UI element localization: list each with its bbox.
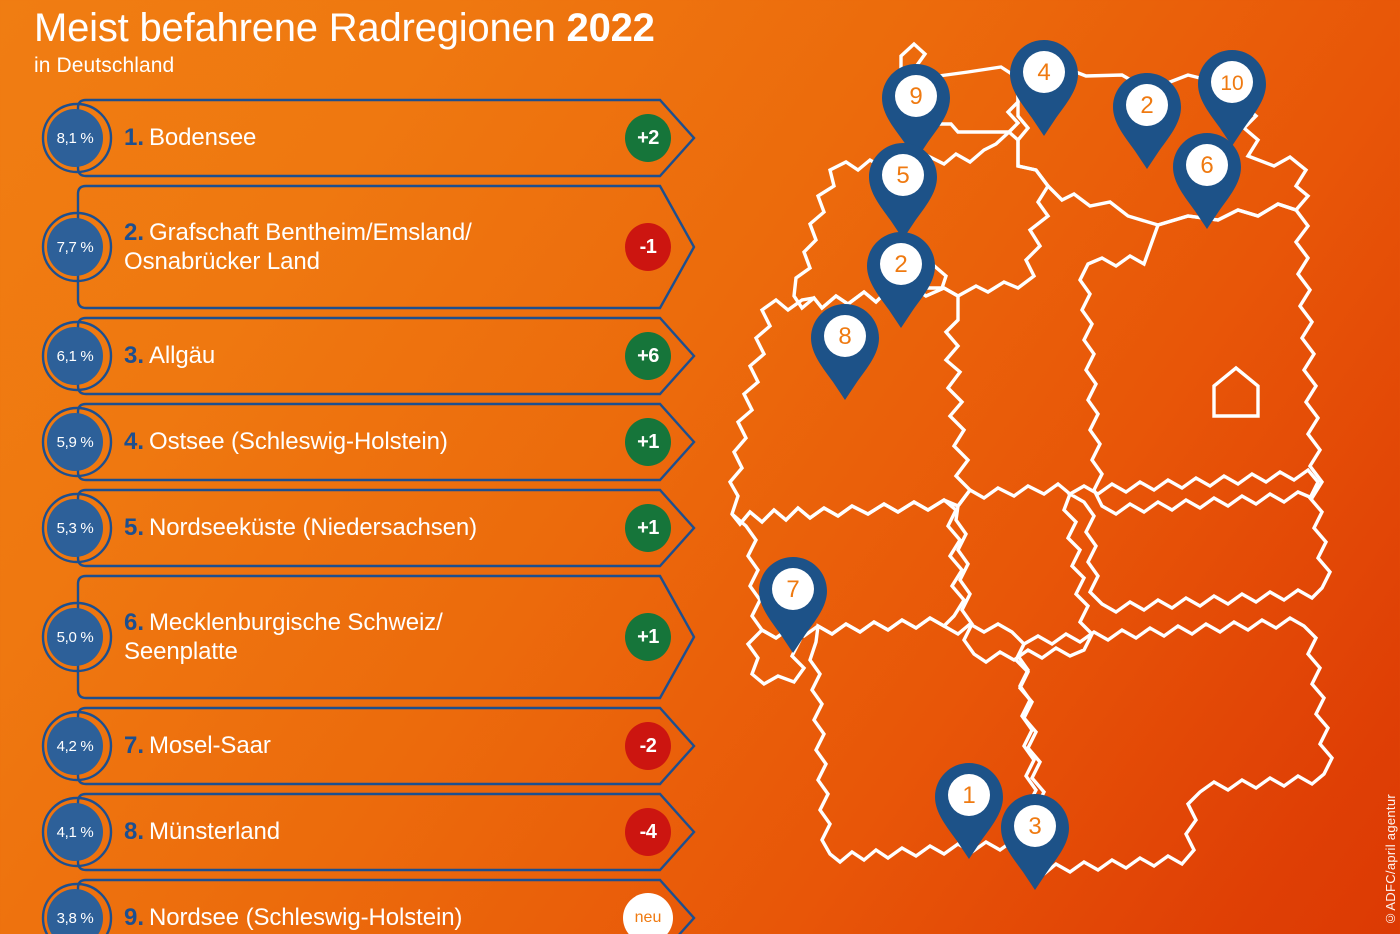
rank-number: 8.: [124, 818, 144, 845]
rank-number: 2.: [124, 219, 144, 246]
change-badge-wrap: -4: [600, 792, 696, 872]
region-label: 8.Münsterland: [114, 792, 600, 872]
change-badge-wrap: +2: [600, 98, 696, 178]
percentage-value: 5,3 %: [57, 520, 94, 537]
percentage-value: 6,1 %: [57, 348, 94, 365]
ranking-row[interactable]: 5,9 %4.Ostsee (Schleswig-Holstein)+1: [36, 402, 696, 482]
pin-number: 5: [896, 162, 909, 189]
percentage-bubble: 6,1 %: [36, 316, 114, 396]
change-badge-wrap: -1: [600, 184, 696, 310]
ranking-row[interactable]: 3,8 %9.Nordsee (Schleswig-Holstein)neu: [36, 878, 696, 934]
page-title: Meist befahrene Radregionen 2022: [34, 6, 814, 51]
rank-number: 9.: [124, 904, 144, 931]
rank-number: 6.: [124, 609, 144, 636]
region-label: 4.Ostsee (Schleswig-Holstein): [114, 402, 600, 482]
rank-number: 5.: [124, 514, 144, 541]
change-badge: +2: [625, 114, 671, 162]
change-badge-wrap: +1: [600, 402, 696, 482]
percentage-bubble: 8,1 %: [36, 98, 114, 178]
pin-number: 4: [1037, 59, 1050, 86]
ranking-row[interactable]: 5,3 %5.Nordseeküste (Niedersachsen)+1: [36, 488, 696, 568]
change-badge: +1: [625, 613, 671, 661]
percentage-value: 5,0 %: [57, 629, 94, 646]
region-name: Seenplatte: [124, 638, 238, 665]
map-outline: [730, 44, 1332, 874]
percentage-bubble: 3,8 %: [36, 878, 114, 934]
change-badge-wrap: -2: [600, 706, 696, 786]
map-pin[interactable]: 2: [1113, 73, 1181, 169]
region-label: 5.Nordseeküste (Niedersachsen): [114, 488, 600, 568]
change-badge: +1: [625, 504, 671, 552]
change-badge-wrap: neu: [600, 878, 696, 934]
ranking-row[interactable]: 6,1 %3.Allgäu+6: [36, 316, 696, 396]
pin-number: 2: [1140, 92, 1153, 119]
map-pin[interactable]: 3: [1001, 794, 1069, 890]
pin-number: 7: [786, 576, 799, 603]
region-name: Osnabrücker Land: [124, 248, 320, 275]
map-pin[interactable]: 2: [867, 232, 935, 328]
map-pin[interactable]: 8: [811, 304, 879, 400]
change-badge: -2: [625, 722, 671, 770]
percentage-value: 8,1 %: [57, 130, 94, 147]
ranking-row[interactable]: 5,0 %6.Mecklenburgische Schweiz/Seenplat…: [36, 574, 696, 700]
region-label: 7.Mosel-Saar: [114, 706, 600, 786]
map-pin[interactable]: 4: [1010, 40, 1078, 136]
map-pin[interactable]: 10: [1198, 50, 1266, 146]
title-main-text: Meist befahrene Radregionen: [34, 6, 567, 50]
percentage-value: 7,7 %: [57, 239, 94, 256]
change-badge-wrap: +1: [600, 488, 696, 568]
percentage-value: 5,9 %: [57, 434, 94, 451]
rank-number: 7.: [124, 732, 144, 759]
region-label: 1.Bodensee: [114, 98, 600, 178]
pin-number: 3: [1028, 813, 1041, 840]
change-badge: -4: [625, 808, 671, 856]
page-subtitle: in Deutschland: [34, 54, 814, 78]
region-label: 2.Grafschaft Bentheim/Emsland/Osnabrücke…: [114, 184, 600, 310]
change-badge-wrap: +6: [600, 316, 696, 396]
percentage-bubble: 5,0 %: [36, 574, 114, 700]
pin-number: 8: [838, 323, 851, 350]
region-name: Allgäu: [149, 342, 215, 369]
region-label: 9.Nordsee (Schleswig-Holstein): [114, 878, 600, 934]
percentage-value: 4,1 %: [57, 824, 94, 841]
pin-number: 1: [962, 782, 975, 809]
change-badge: +1: [625, 418, 671, 466]
region-name: Münsterland: [149, 818, 280, 845]
change-badge: neu: [623, 893, 673, 934]
header: Meist befahrene Radregionen 2022 in Deut…: [34, 6, 814, 78]
pin-number: 9: [909, 83, 922, 110]
percentage-value: 4,2 %: [57, 738, 94, 755]
rank-number: 1.: [124, 124, 144, 151]
region-name: Bodensee: [149, 124, 256, 151]
region-name: Mecklenburgische Schweiz/: [149, 609, 443, 636]
percentage-bubble: 7,7 %: [36, 184, 114, 310]
percentage-bubble: 5,3 %: [36, 488, 114, 568]
rank-number: 3.: [124, 342, 144, 369]
change-badge: -1: [625, 223, 671, 271]
region-name: Mosel-Saar: [149, 732, 271, 759]
ranking-list: 8,1 %1.Bodensee+27,7 %2.Grafschaft Benth…: [36, 98, 696, 934]
germany-map: 942105628713: [718, 20, 1400, 934]
map-pin[interactable]: 5: [869, 143, 937, 239]
pin-number: 2: [894, 251, 907, 278]
change-badge-wrap: +1: [600, 574, 696, 700]
region-name: Grafschaft Bentheim/Emsland/: [149, 219, 472, 246]
ranking-row[interactable]: 4,1 %8.Münsterland-4: [36, 792, 696, 872]
region-label: 3.Allgäu: [114, 316, 600, 396]
ranking-row[interactable]: 4,2 %7.Mosel-Saar-2: [36, 706, 696, 786]
percentage-bubble: 5,9 %: [36, 402, 114, 482]
ranking-row[interactable]: 7,7 %2.Grafschaft Bentheim/Emsland/Osnab…: [36, 184, 696, 310]
copyright-notice: ©ADFC/april agentur: [1383, 794, 1398, 926]
region-name: Nordseeküste (Niedersachsen): [149, 514, 477, 541]
percentage-bubble: 4,2 %: [36, 706, 114, 786]
pin-number: 6: [1200, 152, 1213, 179]
change-badge: +6: [625, 332, 671, 380]
rank-number: 4.: [124, 428, 144, 455]
title-year: 2022: [567, 6, 655, 50]
percentage-value: 3,8 %: [57, 910, 94, 927]
region-name: Ostsee (Schleswig-Holstein): [149, 428, 448, 455]
ranking-row[interactable]: 8,1 %1.Bodensee+2: [36, 98, 696, 178]
percentage-bubble: 4,1 %: [36, 792, 114, 872]
pin-number: 10: [1220, 72, 1243, 95]
region-name: Nordsee (Schleswig-Holstein): [149, 904, 462, 931]
region-label: 6.Mecklenburgische Schweiz/Seenplatte: [114, 574, 600, 700]
